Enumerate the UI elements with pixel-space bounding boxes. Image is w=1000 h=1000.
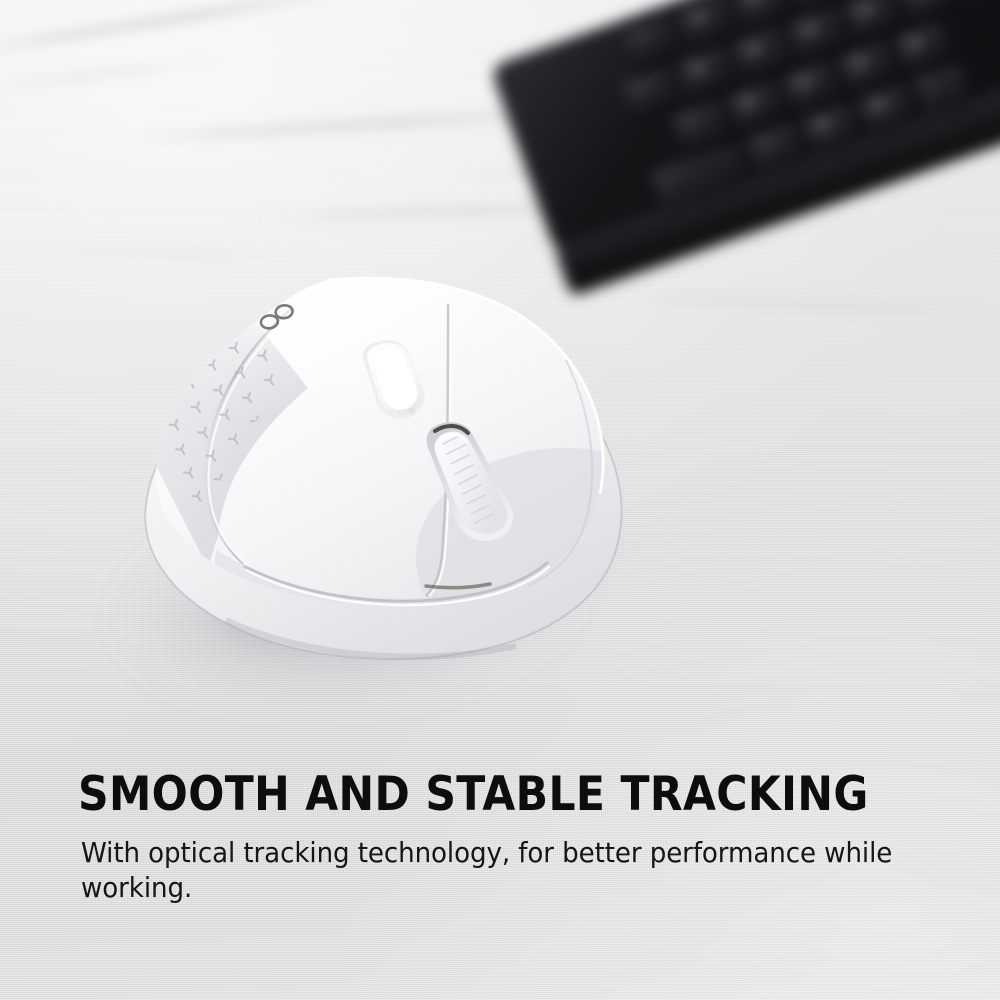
page-title: SMOOTH AND STABLE TRACKING xyxy=(78,770,874,820)
product-image-canvas: SMOOTH AND STABLE TRACKING With optical … xyxy=(0,0,1000,1000)
dpi-button-dot xyxy=(409,408,415,414)
caption-block: SMOOTH AND STABLE TRACKING With optical … xyxy=(78,770,958,906)
caption-subtext: With optical tracking technology, for be… xyxy=(81,836,914,906)
keyboard xyxy=(470,0,1000,290)
mouse xyxy=(96,268,656,688)
mouse-illustration xyxy=(96,268,656,668)
